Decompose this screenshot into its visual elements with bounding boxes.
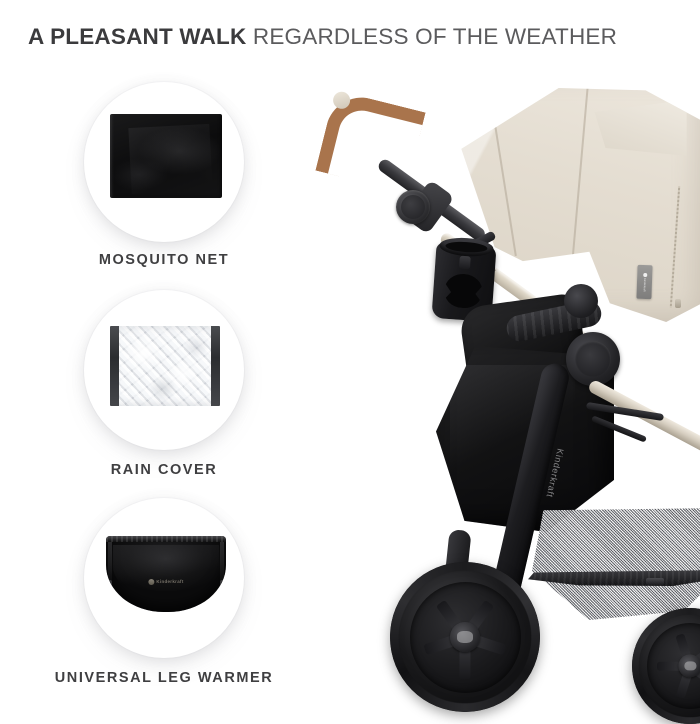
page-title: A PLEASANT WALK REGARDLESS OF THE WEATHE… <box>28 24 617 50</box>
stroller-hub-joint <box>566 332 620 386</box>
mosquito-net-icon <box>110 114 222 198</box>
stroller-basket-clip <box>646 578 664 585</box>
cup-holder-cutout <box>443 273 483 310</box>
leg-warmer-tab-right <box>220 580 226 592</box>
accessory-item-mosquito-net: MOSQUITO NET <box>84 82 244 272</box>
accessory-item-leg-warmer: Kinderkraft UNIVERSAL LEG WARMER <box>84 498 244 688</box>
stroller-rear-wheel <box>632 608 700 724</box>
wheel-hub-cap-icon <box>450 622 480 652</box>
kinderkraft-logo-icon <box>148 579 154 585</box>
accessory-label: RAIN COVER <box>111 462 218 478</box>
canopy-zipper-pull <box>675 299 681 308</box>
stroller-joint-upper <box>564 284 598 318</box>
handle-adjust-button-icon <box>396 190 430 224</box>
page-title-bold: A PLEASANT WALK <box>28 24 246 49</box>
rain-cover-texture <box>110 326 220 406</box>
stroller-storage-basket <box>532 508 700 620</box>
wheel-hub-cap-icon <box>678 654 700 677</box>
accessory-label: MOSQUITO NET <box>99 252 229 268</box>
accessory-item-rain-cover: RAIN COVER <box>84 290 244 480</box>
kinderkraft-logo-icon <box>643 272 647 276</box>
product-feature-image: A PLEASANT WALK REGARDLESS OF THE WEATHE… <box>0 0 700 700</box>
canopy-tag-text: Kinderkraft <box>643 277 646 291</box>
kinderkraft-bear-logo-icon <box>582 353 604 365</box>
leg-warmer-sheen <box>113 545 219 598</box>
page-title-regular: REGARDLESS OF THE WEATHER <box>246 24 617 49</box>
leg-warmer-tab-left <box>106 580 112 592</box>
kinderkraft-badge-text: Kinderkraft <box>156 579 183 584</box>
rain-cover-icon <box>110 326 220 406</box>
stroller-product-photo: Kinderkraft MOOV <box>318 78 700 700</box>
leg-warmer-top-band <box>106 536 226 542</box>
kinderkraft-badge: Kinderkraft <box>148 579 183 585</box>
cup-holder-clip <box>459 256 471 270</box>
accessory-label: UNIVERSAL LEG WARMER <box>55 670 273 686</box>
canopy-brand-tag: Kinderkraft <box>637 264 653 299</box>
stroller-front-wheel <box>390 562 540 712</box>
